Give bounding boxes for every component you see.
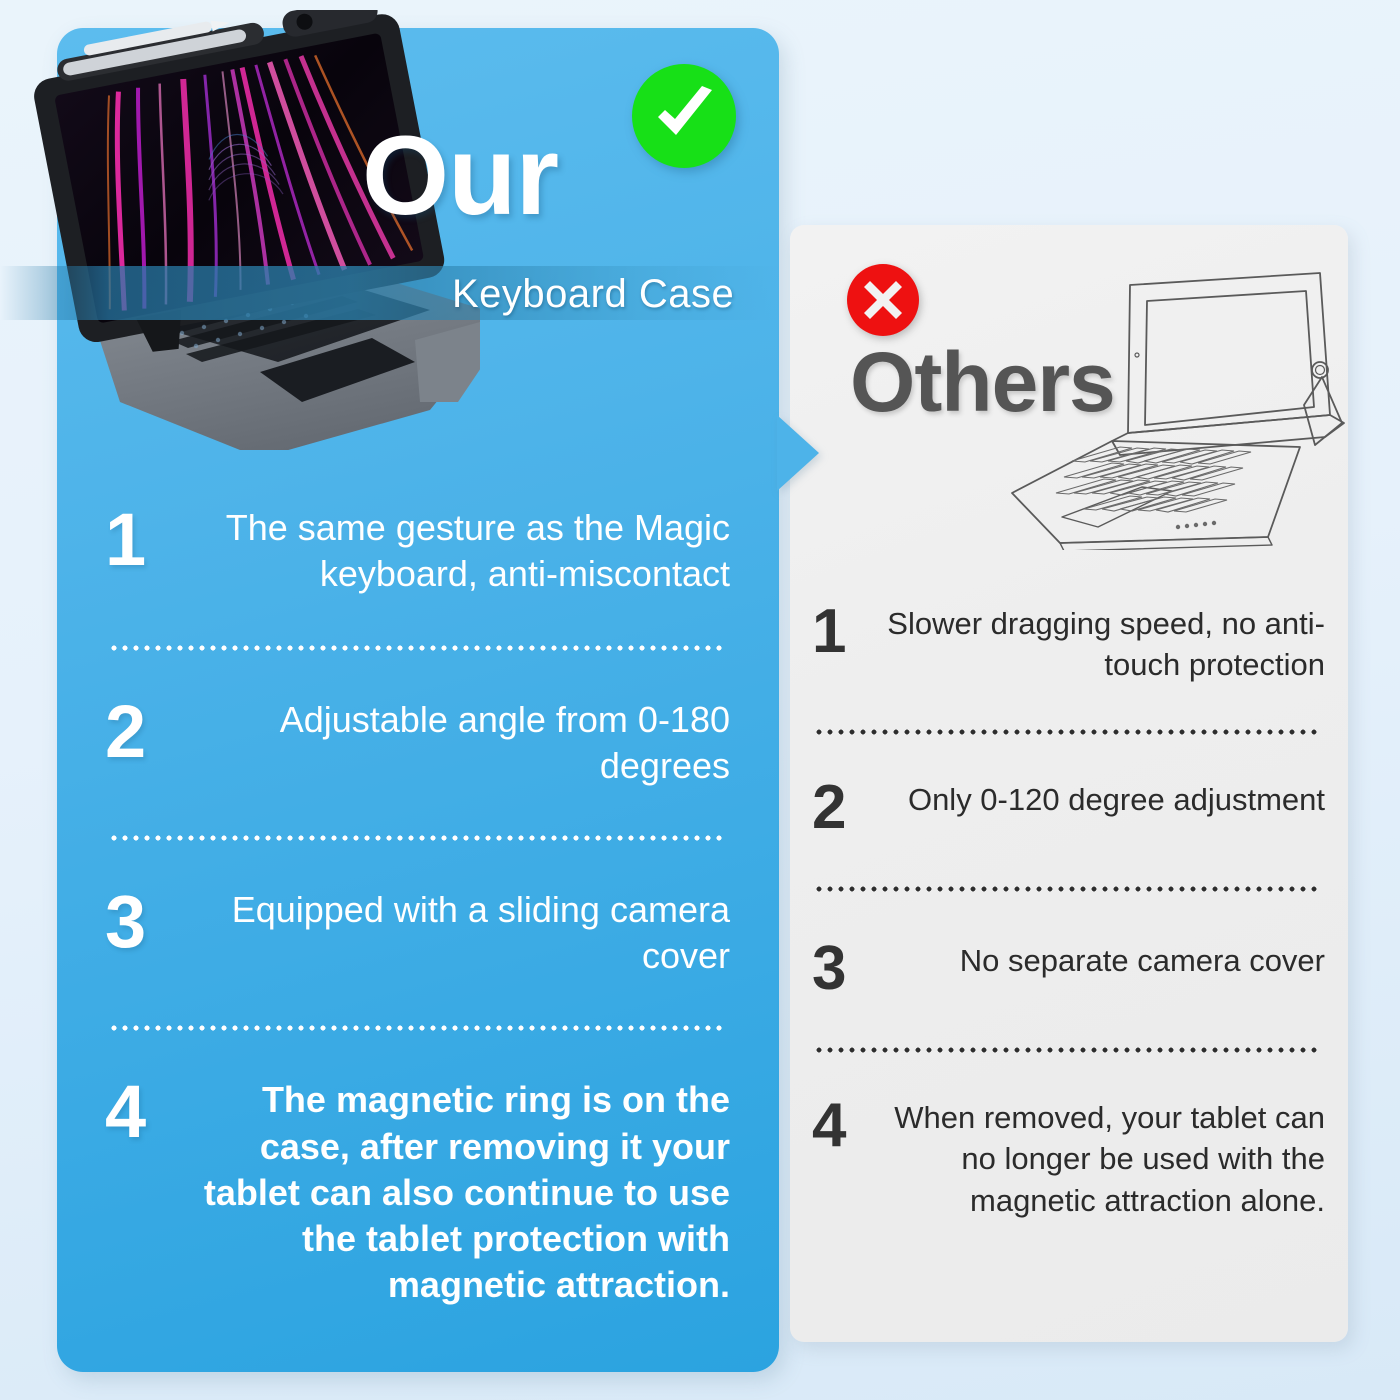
red-x-circle-icon: [845, 262, 921, 338]
others-panel-title: Others: [850, 340, 1115, 424]
our-feature-list: 1 The same gesture as the Magic keyboard…: [105, 505, 730, 1308]
item-number: 4: [105, 1077, 163, 1147]
others-feature-list: 1 Slower dragging speed, no anti-touch p…: [812, 603, 1325, 1221]
our-panel-subtitle: Keyboard Case: [452, 272, 734, 317]
list-item: 4 When removed, your tablet can no longe…: [812, 1097, 1325, 1221]
list-item: 3 No separate camera cover: [812, 940, 1325, 999]
item-number: 2: [105, 697, 163, 767]
list-item: 2 Adjustable angle from 0-180 degrees: [105, 697, 730, 789]
item-text: Adjustable angle from 0-180 degrees: [181, 697, 730, 789]
list-separator: [111, 645, 724, 651]
list-item: 3 Equipped with a sliding camera cover: [105, 887, 730, 979]
our-panel-title: Our: [362, 120, 558, 232]
item-number: 4: [812, 1097, 860, 1156]
list-item: 2 Only 0-120 degree adjustment: [812, 779, 1325, 838]
item-number: 1: [812, 603, 860, 662]
list-separator: [816, 729, 1321, 735]
item-number: 3: [105, 887, 163, 957]
green-check-circle-icon: [630, 62, 738, 170]
item-text: No separate camera cover: [878, 940, 1325, 981]
list-separator: [111, 835, 724, 841]
panel-pointer-arrow: [777, 415, 819, 491]
item-number: 3: [812, 940, 860, 999]
item-text: When removed, your tablet can no longer …: [878, 1097, 1325, 1221]
list-separator: [816, 886, 1321, 892]
item-text: Only 0-120 degree adjustment: [878, 779, 1325, 820]
item-number: 2: [812, 779, 860, 838]
list-separator: [111, 1025, 724, 1031]
list-item: 1 The same gesture as the Magic keyboard…: [105, 505, 730, 597]
item-text: The same gesture as the Magic keyboard, …: [181, 505, 730, 597]
list-separator: [816, 1047, 1321, 1053]
item-text: Equipped with a sliding camera cover: [181, 887, 730, 979]
list-item: 4 The magnetic ring is on the case, afte…: [105, 1077, 730, 1307]
item-text: Slower dragging speed, no anti-touch pro…: [878, 603, 1325, 685]
item-number: 1: [105, 505, 163, 575]
list-item: 1 Slower dragging speed, no anti-touch p…: [812, 603, 1325, 685]
item-text: The magnetic ring is on the case, after …: [181, 1077, 730, 1307]
